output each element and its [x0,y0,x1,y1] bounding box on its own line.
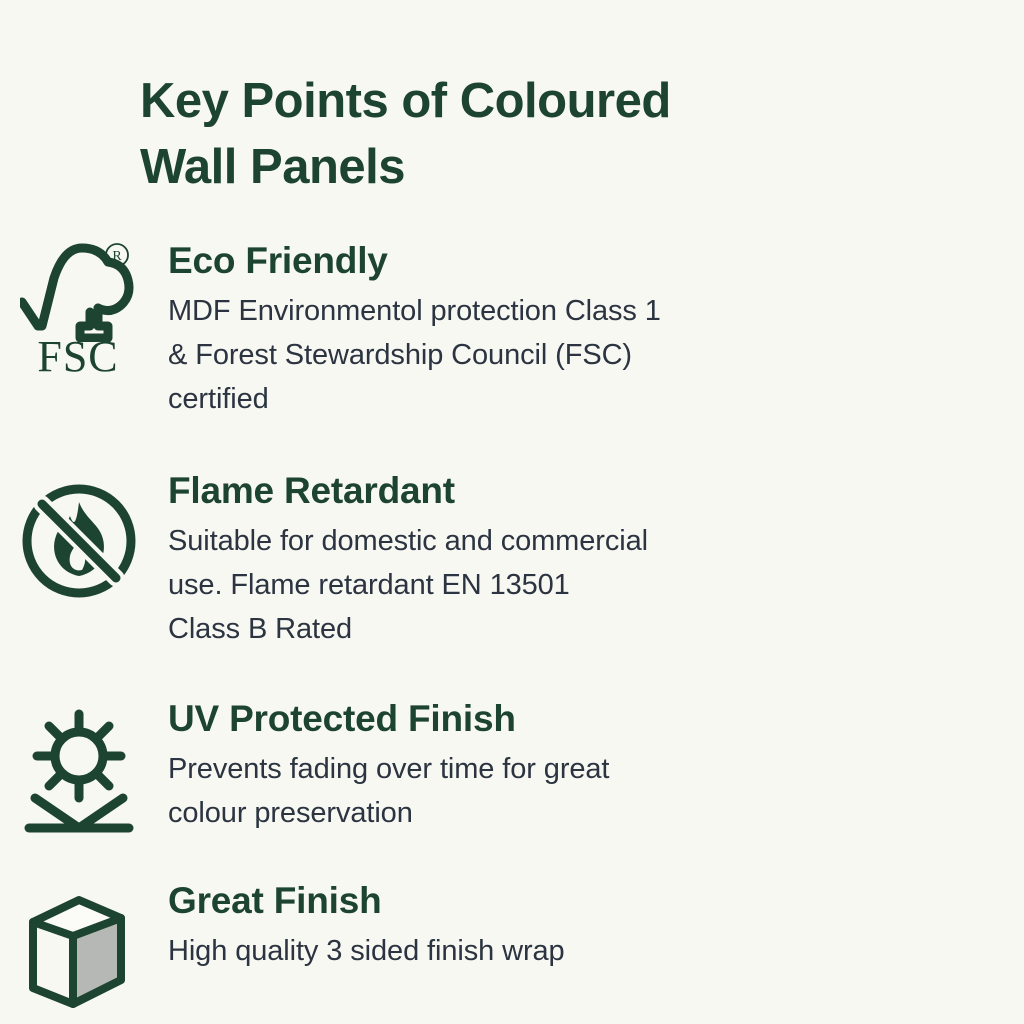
sun-uv-protection-icon [15,706,143,834]
feature-heading-flame-retardant: Flame Retardant [168,468,954,514]
feature-heading-uv-protected: UV Protected Finish [168,696,954,742]
feature-list: R FSC Eco Friendly MDF Environmentol pro… [0,238,1024,1018]
feature-row-uv-protected: UV Protected Finish Prevents fading over… [0,696,1024,878]
feature-row-flame-retardant: Flame Retardant Suitable for domestic an… [0,468,1024,696]
three-sided-wrap-box-icon [21,892,137,1018]
svg-text:R: R [112,249,122,264]
feature-body-uv-protected: Prevents fading over time for great colo… [168,747,954,835]
registered-trademark-icon: R [104,242,132,270]
fsc-certified-tree-icon: R FSC [20,242,138,382]
feature-body-flame-retardant: Suitable for domestic and commercial use… [168,519,954,651]
feature-text-block: Flame Retardant Suitable for domestic an… [150,468,1024,651]
fsc-wordmark: FSC [22,334,134,380]
page-title: Key Points of Coloured Wall Panels [140,68,860,200]
infographic-page: Key Points of Coloured Wall Panels R [0,0,1024,1024]
feature-icon-slot [0,878,150,1018]
feature-icon-slot [0,696,150,834]
feature-heading-great-finish: Great Finish [168,878,954,924]
feature-icon-slot: R FSC [0,238,150,382]
feature-text-block: Great Finish High quality 3 sided finish… [150,878,1024,973]
feature-icon-slot [0,468,150,602]
feature-row-eco-friendly: R FSC Eco Friendly MDF Environmentol pro… [0,238,1024,468]
feature-row-great-finish: Great Finish High quality 3 sided finish… [0,878,1024,1018]
feature-text-block: Eco Friendly MDF Environmentol protectio… [150,238,1024,421]
feature-heading-eco-friendly: Eco Friendly [168,238,954,284]
feature-body-eco-friendly: MDF Environmentol protection Class 1 & F… [168,289,954,421]
feature-body-great-finish: High quality 3 sided finish wrap [168,929,954,973]
no-flame-fire-retardant-icon [18,480,140,602]
feature-text-block: UV Protected Finish Prevents fading over… [150,696,1024,835]
